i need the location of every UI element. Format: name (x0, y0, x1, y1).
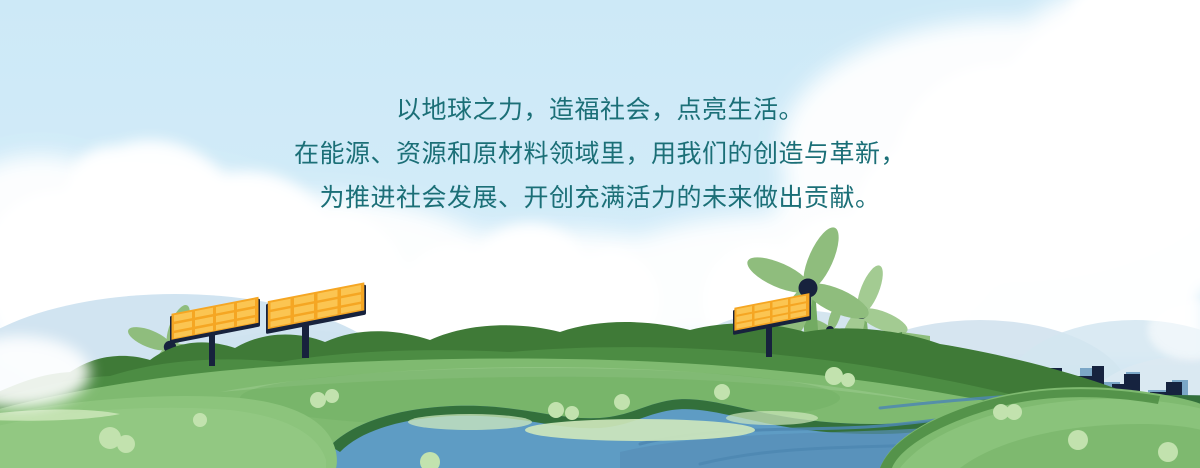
illustration-scene (0, 0, 1200, 468)
eco-energy-hero-banner: 以地球之力，造福社会，点亮生活。 在能源、资源和原材料领域里，用我们的创造与革新… (0, 0, 1200, 468)
